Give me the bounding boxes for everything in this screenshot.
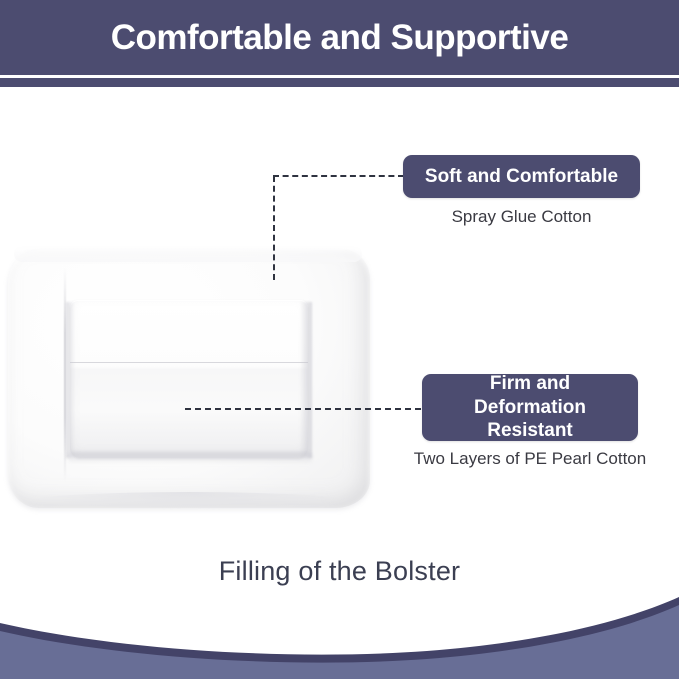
wave-shape <box>0 589 679 679</box>
leader-line-horizontal-top <box>273 175 404 177</box>
callout-label-text: Firm and Deformation Resistant <box>436 372 624 443</box>
leader-line-horizontal-bottom <box>185 408 421 410</box>
product-image-cushion <box>8 244 376 512</box>
callout-label-text: Soft and Comfortable <box>425 165 618 189</box>
cushion-inner-edge-left <box>66 302 74 458</box>
callout-soft-and-comfortable: Soft and Comfortable Spray Glue Cotton <box>403 155 640 227</box>
callout-caption-text: Two Layers of PE Pearl Cotton <box>412 449 648 469</box>
callout-caption-text: Spray Glue Cotton <box>403 207 640 227</box>
cushion-inner-edge-right <box>300 302 312 458</box>
callout-label-box: Firm and Deformation Resistant <box>422 374 638 441</box>
leader-line-vertical-top <box>273 176 275 280</box>
header-banner: Comfortable and Supportive <box>0 0 679 75</box>
infographic-page: Comfortable and Supportive Soft and Comf… <box>0 0 679 679</box>
callout-label-box: Soft and Comfortable <box>403 155 640 198</box>
cushion-inner-block <box>70 300 308 458</box>
page-title: Comfortable and Supportive <box>111 20 569 55</box>
cushion-inner-shadow <box>68 452 312 464</box>
header-divider-bar <box>0 78 679 87</box>
callout-firm-and-deformation-resistant: Firm and Deformation Resistant Two Layer… <box>422 374 638 469</box>
footer-title: Filling of the Bolster <box>0 556 679 587</box>
bottom-wave-decoration <box>0 589 679 679</box>
